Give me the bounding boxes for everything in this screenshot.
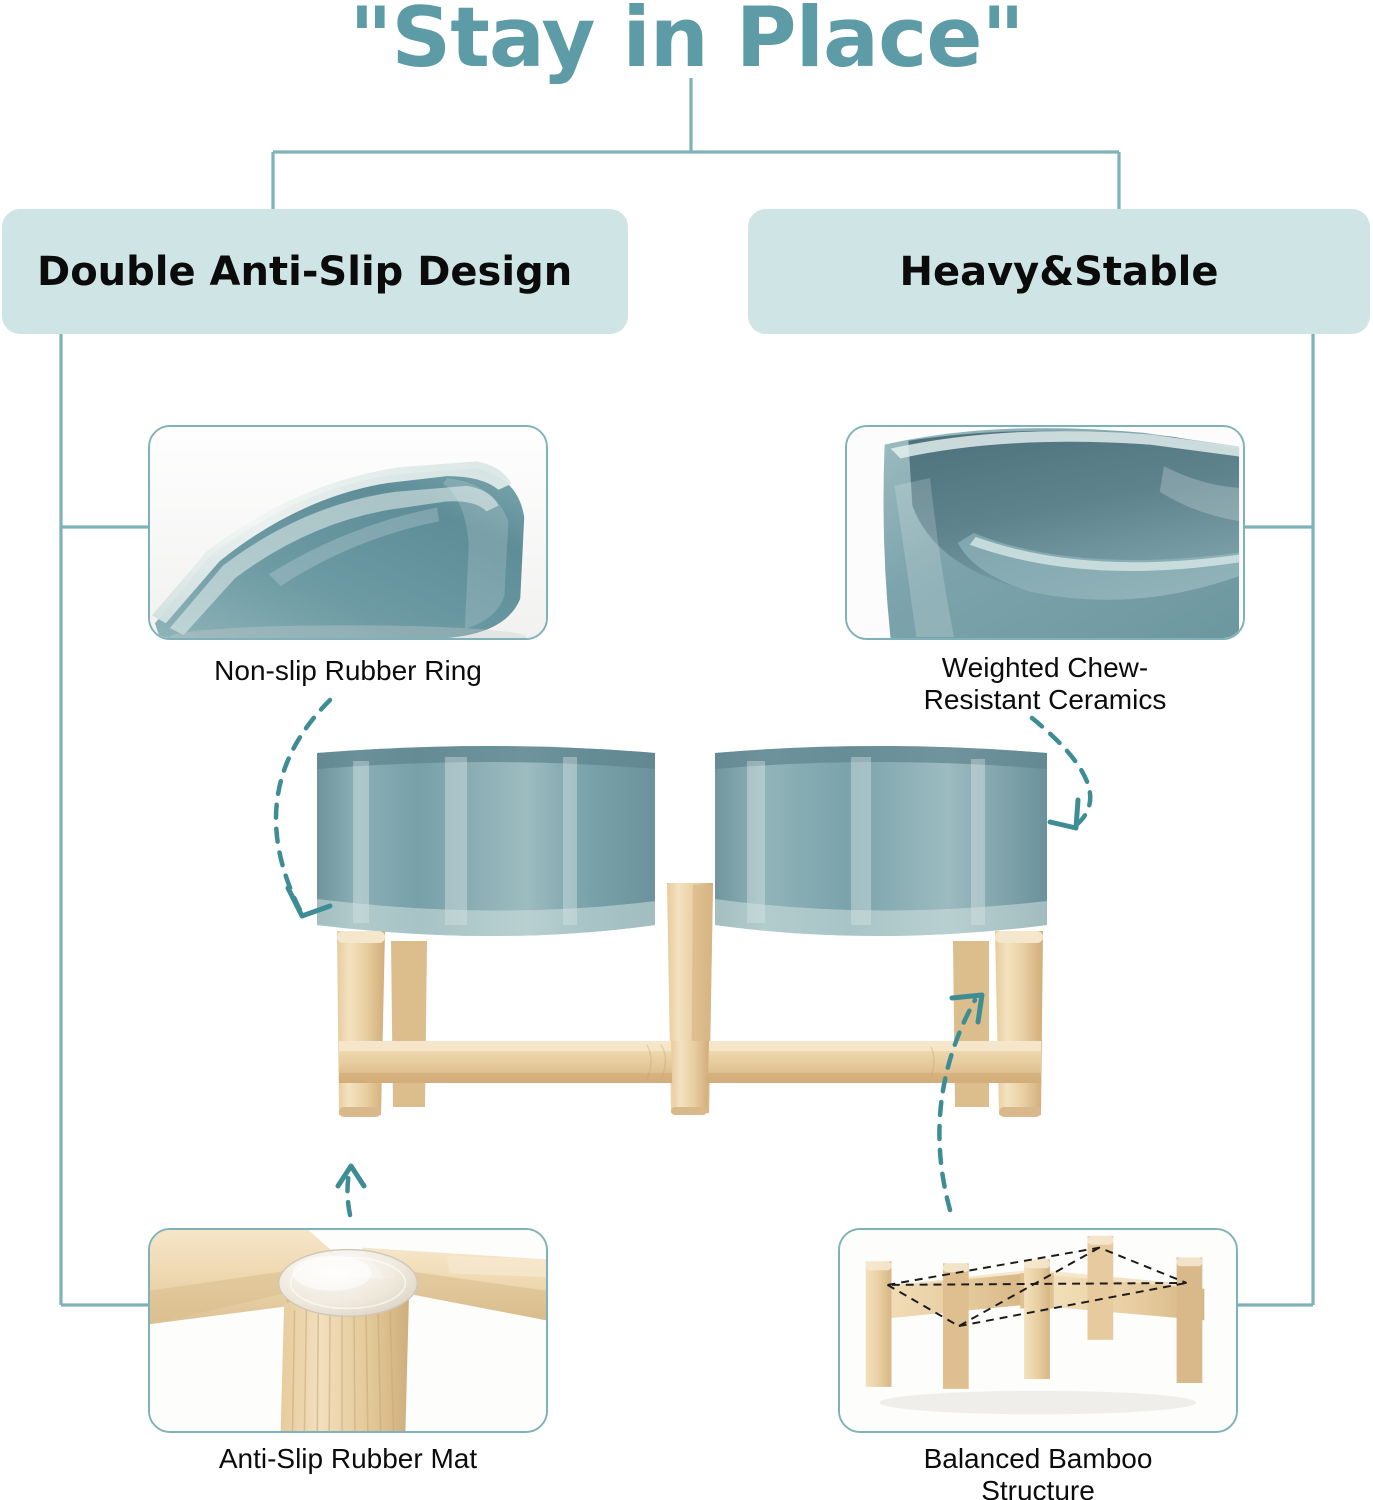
bowl-interior-thick-ceramic-photo (847, 427, 1243, 638)
double-bowl-bamboo-stand-photo (295, 735, 1085, 1160)
caption-balanced-bamboo-structure: Balanced Bamboo Structure (838, 1443, 1238, 1500)
caption-non-slip-rubber-ring: Non-slip Rubber Ring (148, 655, 548, 687)
caption-weighted-chew-resistant-ceramics: Weighted Chew- Resistant Ceramics (836, 652, 1254, 717)
page-title: "Stay in Place" (0, 0, 1373, 81)
caption-anti-slip-rubber-mat: Anti-Slip Rubber Mat (148, 1443, 548, 1475)
bowl-base-rubber-ring-photo (150, 427, 546, 638)
bamboo-leg-rubber-pad-photo (150, 1230, 546, 1431)
hero-product-photo[interactable] (295, 735, 1085, 1160)
photo-frame-anti-slip-rubber-mat[interactable] (148, 1228, 548, 1433)
photo-frame-weighted-ceramics[interactable] (845, 425, 1245, 640)
header-pill-left-label: Double Anti-Slip Design (2, 249, 628, 295)
header-pill-heavy-and-stable[interactable]: Heavy&Stable (748, 209, 1370, 334)
bamboo-stand-balance-diagram-photo (840, 1230, 1236, 1431)
photo-frame-non-slip-rubber-ring[interactable] (148, 425, 548, 640)
infographic-canvas: "Stay in Place" Double Anti-Slip Design … (0, 0, 1373, 1500)
header-pill-double-anti-slip-design[interactable]: Double Anti-Slip Design (2, 209, 628, 334)
header-pill-right-label: Heavy&Stable (748, 249, 1370, 295)
photo-frame-balanced-bamboo-structure[interactable] (838, 1228, 1238, 1433)
